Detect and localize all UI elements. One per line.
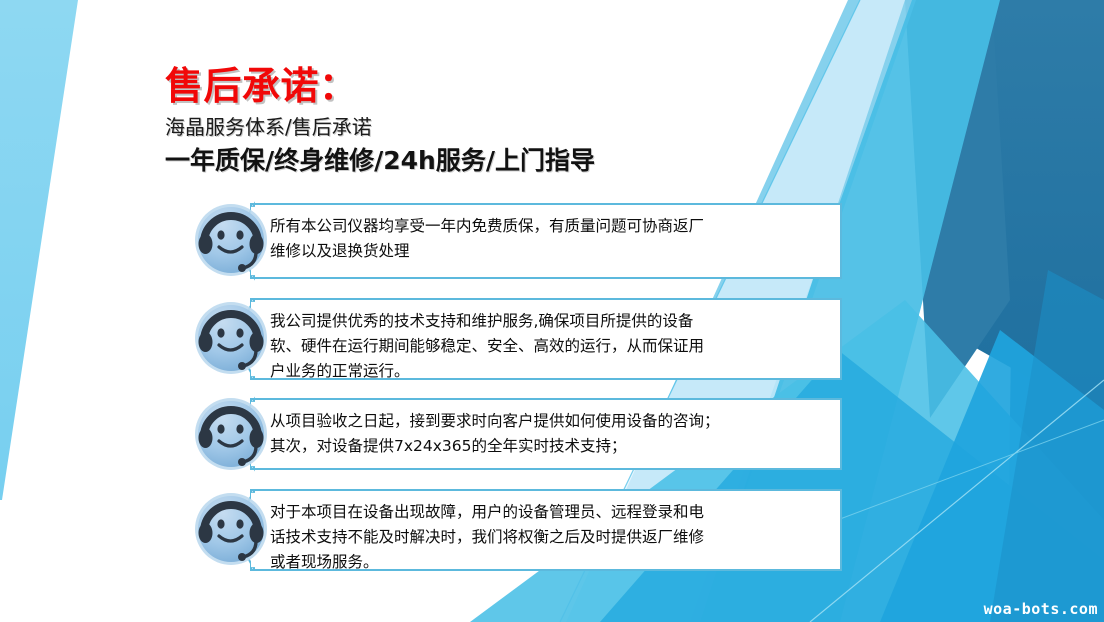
callout-bubble[interactable]: 从项目验收之日起，接到要求时向客户提供如何使用设备的咨询； 其次，对设备提供7x…: [250, 398, 842, 470]
bubble-text: 对于本项目在设备出现故障，用户的设备管理员、远程登录和电 话技术支持不能及时解决…: [270, 500, 826, 575]
bubble-text: 从项目验收之日起，接到要求时向客户提供如何使用设备的咨询； 其次，对设备提供7x…: [270, 409, 826, 459]
callout-bubble[interactable]: 对于本项目在设备出现故障，用户的设备管理员、远程登录和电 话技术支持不能及时解决…: [250, 489, 842, 571]
headset-support-icon: [193, 202, 269, 278]
bubble-text: 所有本公司仪器均享受一年内免费质保，有质量问题可协商返厂 维修以及退换货处理: [270, 214, 826, 264]
list-item[interactable]: 所有本公司仪器均享受一年内免费质保，有质量问题可协商返厂 维修以及退换货处理: [193, 203, 845, 279]
slide-canvas: 售后承诺： 海晶服务体系/售后承诺 一年质保/终身维修/24h服务/上门指导 所…: [0, 0, 1104, 622]
watermark: woa-bots.com: [984, 600, 1098, 618]
callout-bubble[interactable]: 所有本公司仪器均享受一年内免费质保，有质量问题可协商返厂 维修以及退换货处理: [250, 203, 842, 279]
headset-support-icon: [193, 300, 269, 376]
bubble-text: 我公司提供优秀的技术支持和维护服务,确保项目所提供的设备 软、硬件在运行期间能够…: [270, 309, 826, 384]
callout-bubble[interactable]: 我公司提供优秀的技术支持和维护服务,确保项目所提供的设备 软、硬件在运行期间能够…: [250, 298, 842, 380]
commitment-list: 所有本公司仪器均享受一年内免费质保，有质量问题可协商返厂 维修以及退换货处理我公…: [0, 0, 1104, 622]
headset-support-icon: [193, 491, 269, 567]
list-item[interactable]: 对于本项目在设备出现故障，用户的设备管理员、远程登录和电 话技术支持不能及时解决…: [193, 489, 845, 571]
list-item[interactable]: 从项目验收之日起，接到要求时向客户提供如何使用设备的咨询； 其次，对设备提供7x…: [193, 398, 845, 470]
list-item[interactable]: 我公司提供优秀的技术支持和维护服务,确保项目所提供的设备 软、硬件在运行期间能够…: [193, 298, 845, 380]
headset-support-icon: [193, 396, 269, 472]
